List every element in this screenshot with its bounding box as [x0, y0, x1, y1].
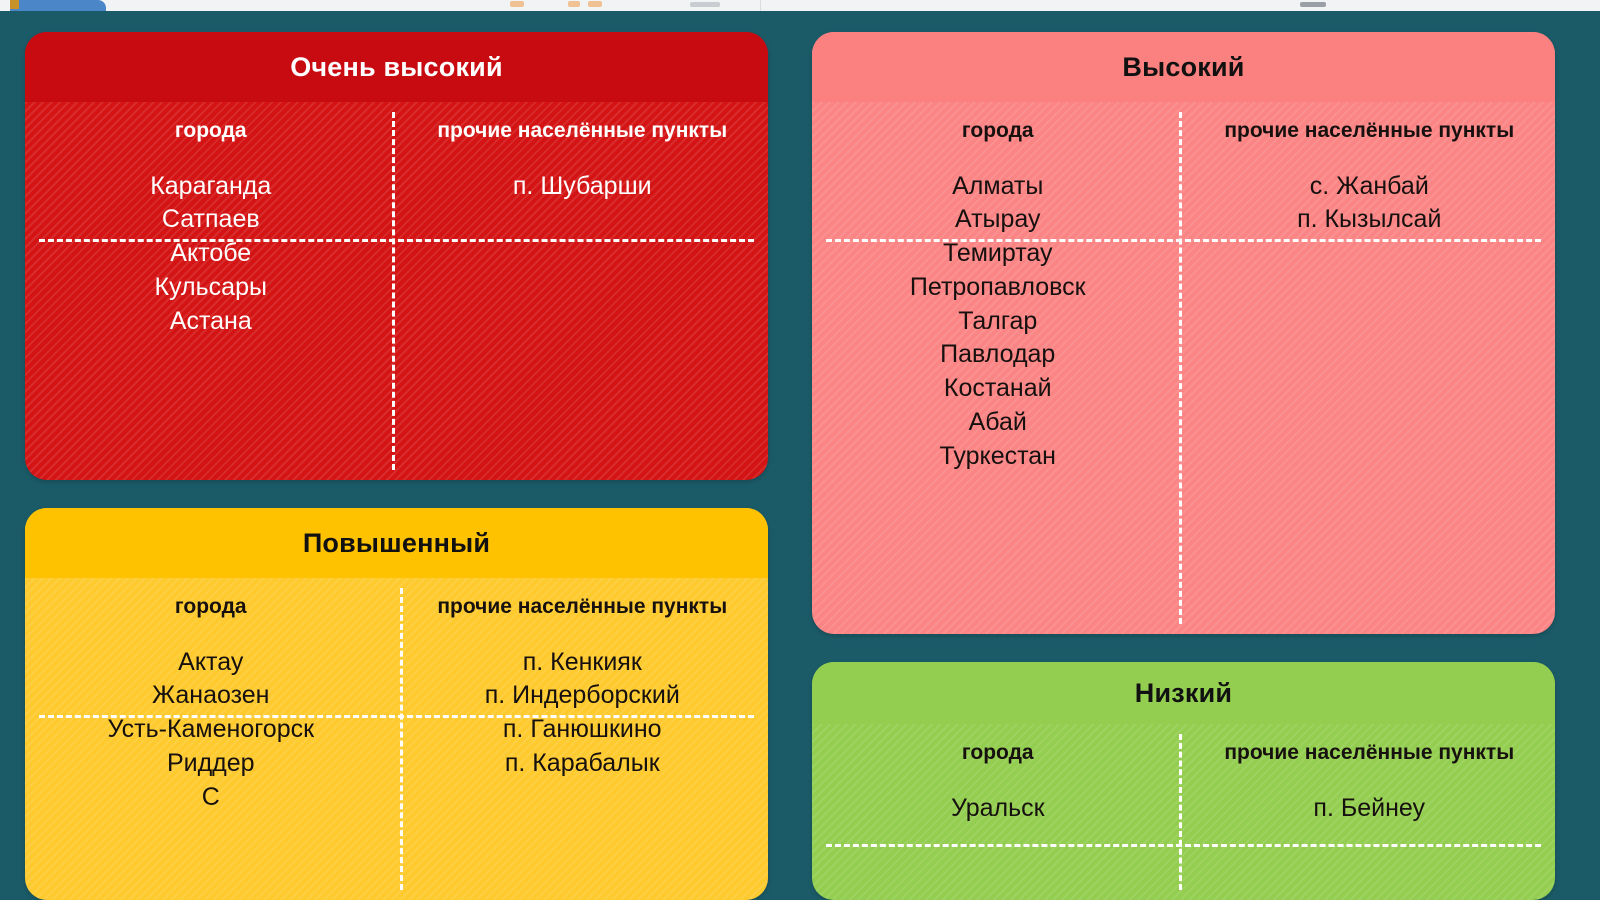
browser-chrome-strip [0, 0, 1600, 11]
list-item: Жанаозен [33, 679, 389, 713]
list-item: Абай [820, 406, 1176, 440]
card-title-high: Высокий [812, 32, 1555, 102]
list-item: Караганда [33, 170, 389, 204]
card-title-elevated: Повышенный [25, 508, 768, 578]
column-header-other: прочие населённые пункты [397, 578, 769, 634]
other-places-list-elevated: п. Кенкиякп. Индерборскийп. Ганюшкиноп. … [397, 634, 769, 900]
list-item: Алматы [820, 170, 1176, 204]
list-item: Актобе [33, 237, 389, 271]
browser-tab[interactable] [10, 0, 106, 11]
list-item: Риддер [33, 747, 389, 781]
table-high: города прочие населённые пункты АлматыАт… [812, 102, 1555, 634]
other-places-list-very-high: п. Шубарши [397, 158, 769, 480]
list-item: С [33, 781, 389, 815]
column-header-cities: города [812, 102, 1184, 158]
other-places-list-high: с. Жанбайп. Кызылсай [1184, 158, 1556, 634]
column-header-cities: города [25, 102, 397, 158]
column-header-other: прочие населённые пункты [397, 102, 769, 158]
card-title-low: Низкий [812, 662, 1555, 724]
list-item: п. Индерборский [405, 679, 761, 713]
cities-list-low: Уральск [812, 780, 1184, 900]
list-item: Петропавловск [820, 271, 1176, 305]
list-item: п. Ганюшкино [405, 713, 761, 747]
card-body-high: города прочие населённые пункты АлматыАт… [812, 102, 1555, 634]
list-item: Уральск [820, 792, 1176, 826]
list-item: Талгар [820, 305, 1176, 339]
toolbar-icon-b[interactable] [568, 1, 580, 7]
table-elevated: города прочие населённые пункты АктауЖан… [25, 578, 768, 900]
toolbar-icon-a[interactable] [510, 1, 524, 7]
list-item: п. Шубарши [405, 170, 761, 204]
list-item: п. Кенкияк [405, 646, 761, 680]
list-item: Сатпаев [33, 203, 389, 237]
toolbar-divider [760, 0, 761, 11]
toolbar-icon-right[interactable] [1300, 2, 1326, 7]
cities-list-elevated: АктауЖанаозенУсть-КаменогорскРиддерС [25, 634, 397, 900]
list-item: Павлодар [820, 338, 1176, 372]
list-item: с. Жанбай [1192, 170, 1548, 204]
list-item: Усть-Каменогорск [33, 713, 389, 747]
card-low: Низкий города прочие населённые пункты У… [812, 662, 1555, 900]
column-header-other: прочие населённые пункты [1184, 102, 1556, 158]
table-very-high: города прочие населённые пункты Караганд… [25, 102, 768, 480]
column-header-cities: города [25, 578, 397, 634]
list-item: Туркестан [820, 440, 1176, 474]
card-title-very-high: Очень высокий [25, 32, 768, 102]
list-item: Астана [33, 305, 389, 339]
card-body-low: города прочие населённые пункты Уральск … [812, 724, 1555, 900]
address-bar[interactable] [690, 2, 720, 7]
favicon-icon [10, 0, 19, 9]
other-places-list-low: п. Бейнеу [1184, 780, 1556, 900]
column-header-cities: города [812, 724, 1184, 780]
list-item: Атырау [820, 203, 1176, 237]
list-item: Костанай [820, 372, 1176, 406]
card-very-high: Очень высокий города прочие населённые п… [25, 32, 768, 480]
table-low: города прочие населённые пункты Уральск … [812, 724, 1555, 900]
list-item: Актау [33, 646, 389, 680]
card-body-very-high: города прочие населённые пункты Караганд… [25, 102, 768, 480]
list-item: п. Карабалык [405, 747, 761, 781]
column-header-other: прочие населённые пункты [1184, 724, 1556, 780]
toolbar-icon-c[interactable] [588, 1, 602, 7]
cities-list-high: АлматыАтырауТемиртауПетропавловскТалгарП… [812, 158, 1184, 634]
card-body-elevated: города прочие населённые пункты АктауЖан… [25, 578, 768, 900]
card-elevated: Повышенный города прочие населённые пунк… [25, 508, 768, 900]
list-item: п. Кызылсай [1192, 203, 1548, 237]
list-item: Кульсары [33, 271, 389, 305]
card-high: Высокий города прочие населённые пункты … [812, 32, 1555, 634]
cities-list-very-high: КарагандаСатпаевАктобеКульсарыАстана [25, 158, 397, 480]
list-item: Темиртау [820, 237, 1176, 271]
list-item: п. Бейнеу [1192, 792, 1548, 826]
